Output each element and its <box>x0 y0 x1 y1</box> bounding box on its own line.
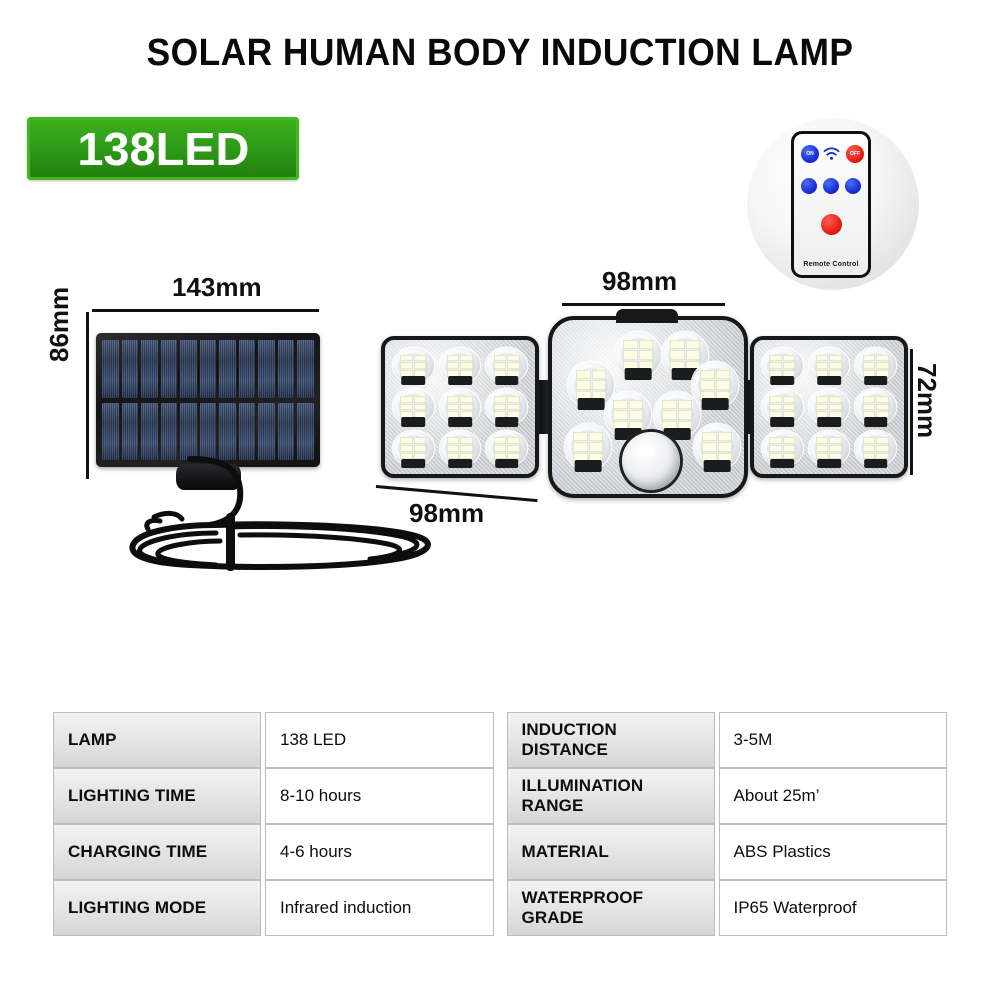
solar-cell <box>161 340 178 398</box>
remote-control-label: Remote Control <box>794 261 868 268</box>
solar-cell-row <box>102 340 314 398</box>
table-row: MATERIAL ABS Plastics <box>507 824 948 880</box>
led-cluster <box>809 348 850 383</box>
led-cluster <box>855 431 896 466</box>
led-cluster <box>809 431 850 466</box>
led-cluster <box>393 389 434 424</box>
spec-value: 3-5M <box>719 712 948 768</box>
remote-control-body: ON OFF Remote Control <box>791 131 871 278</box>
led-cluster <box>605 392 651 438</box>
led-cluster <box>694 424 740 470</box>
led-cluster <box>440 431 481 466</box>
led-cluster <box>654 392 700 438</box>
remote-mode-1-button <box>801 178 817 194</box>
led-cluster <box>855 389 896 424</box>
solar-cell <box>161 403 178 461</box>
solar-cell <box>200 403 217 461</box>
spec-key: LIGHTING MODE <box>53 880 261 936</box>
solar-cell <box>239 340 256 398</box>
led-cluster <box>762 431 803 466</box>
lamp-head-right <box>750 336 908 478</box>
solar-cell <box>219 403 236 461</box>
spec-column-left: LAMP 138 LED LIGHTING TIME 8-10 hours CH… <box>53 712 494 936</box>
spec-value: About 25m’ <box>719 768 948 824</box>
led-grid-right <box>760 346 898 468</box>
table-row: ILLUMINATION RANGE About 25m’ <box>507 768 948 824</box>
spec-key: ILLUMINATION RANGE <box>507 768 715 824</box>
remote-mode-3-button <box>845 178 861 194</box>
table-row: LIGHTING MODE Infrared induction <box>53 880 494 936</box>
solar-cell <box>200 340 217 398</box>
led-grid-left <box>391 346 529 468</box>
signal-icon <box>823 146 840 162</box>
solar-cell <box>297 340 314 398</box>
led-cluster <box>486 389 527 424</box>
spec-key: WATERPROOF GRADE <box>507 880 715 936</box>
dimension-line-solar-height <box>86 312 89 479</box>
led-cluster <box>393 431 434 466</box>
page-title: SOLAR HUMAN BODY INDUCTION LAMP <box>35 32 965 75</box>
dimension-label-solar-width: 143mm <box>172 272 262 303</box>
solar-cell <box>278 403 295 461</box>
led-cluster <box>568 362 614 408</box>
remote-power-button <box>821 214 842 235</box>
led-grid-center <box>552 320 744 494</box>
solar-cell-row <box>102 403 314 461</box>
table-row: LIGHTING TIME 8-10 hours <box>53 768 494 824</box>
solar-cell <box>102 403 119 461</box>
led-cluster <box>855 348 896 383</box>
spec-key: INDUCTION DISTANCE <box>507 712 715 768</box>
solar-cell <box>141 403 158 461</box>
table-row: LAMP 138 LED <box>53 712 494 768</box>
remote-off-button: OFF <box>846 145 864 163</box>
spec-value: Infrared induction <box>265 880 494 936</box>
solar-cell <box>297 403 314 461</box>
lamp-head-center <box>548 316 748 498</box>
pir-motion-sensor-icon <box>622 432 680 490</box>
remote-mode-2-button <box>823 178 839 194</box>
led-cluster <box>486 431 527 466</box>
led-cluster <box>762 389 803 424</box>
solar-cell <box>141 340 158 398</box>
led-cluster <box>615 332 661 378</box>
solar-cell <box>180 403 197 461</box>
dimension-label-head-height: 72mm <box>911 363 942 438</box>
dimension-line-solar-width <box>92 309 319 312</box>
spec-column-right: INDUCTION DISTANCE 3-5M ILLUMINATION RAN… <box>507 712 948 936</box>
dimension-line-center-head-width <box>562 303 725 306</box>
spec-key: LIGHTING TIME <box>53 768 261 824</box>
spec-value: 8-10 hours <box>265 768 494 824</box>
led-count-badge-label: 138LED <box>77 126 249 172</box>
specification-table: LAMP 138 LED LIGHTING TIME 8-10 hours CH… <box>53 712 947 936</box>
led-cluster <box>692 362 738 408</box>
table-row: INDUCTION DISTANCE 3-5M <box>507 712 948 768</box>
solar-cell <box>239 403 256 461</box>
spec-value: 138 LED <box>265 712 494 768</box>
led-count-badge: 138LED <box>27 117 299 180</box>
table-row: CHARGING TIME 4-6 hours <box>53 824 494 880</box>
spec-key: LAMP <box>53 712 261 768</box>
solar-cell <box>258 340 275 398</box>
table-row: WATERPROOF GRADE IP65 Waterproof <box>507 880 948 936</box>
led-cluster <box>762 348 803 383</box>
solar-cell <box>102 340 119 398</box>
led-cluster <box>565 424 611 470</box>
spec-key: MATERIAL <box>507 824 715 880</box>
solar-cell <box>219 340 236 398</box>
dimension-label-center-head-width: 98mm <box>602 266 677 297</box>
lamp-head-left <box>381 336 539 478</box>
solar-panel <box>96 333 320 467</box>
dimension-label-solar-height: 86mm <box>44 287 75 362</box>
solar-cell <box>122 403 139 461</box>
led-cluster <box>809 389 850 424</box>
led-cluster <box>440 389 481 424</box>
led-cluster <box>486 348 527 383</box>
remote-control-photo: ON OFF Remote Control <box>747 118 919 290</box>
spec-value: 4-6 hours <box>265 824 494 880</box>
remote-on-button: ON <box>801 145 819 163</box>
led-cluster <box>393 348 434 383</box>
solar-panel-frame <box>96 333 320 467</box>
spec-value: IP65 Waterproof <box>719 880 948 936</box>
solar-cell <box>122 340 139 398</box>
led-cluster <box>440 348 481 383</box>
solar-cell <box>278 340 295 398</box>
spec-value: ABS Plastics <box>719 824 948 880</box>
solar-cell <box>180 340 197 398</box>
solar-cell <box>258 403 275 461</box>
spec-key: CHARGING TIME <box>53 824 261 880</box>
